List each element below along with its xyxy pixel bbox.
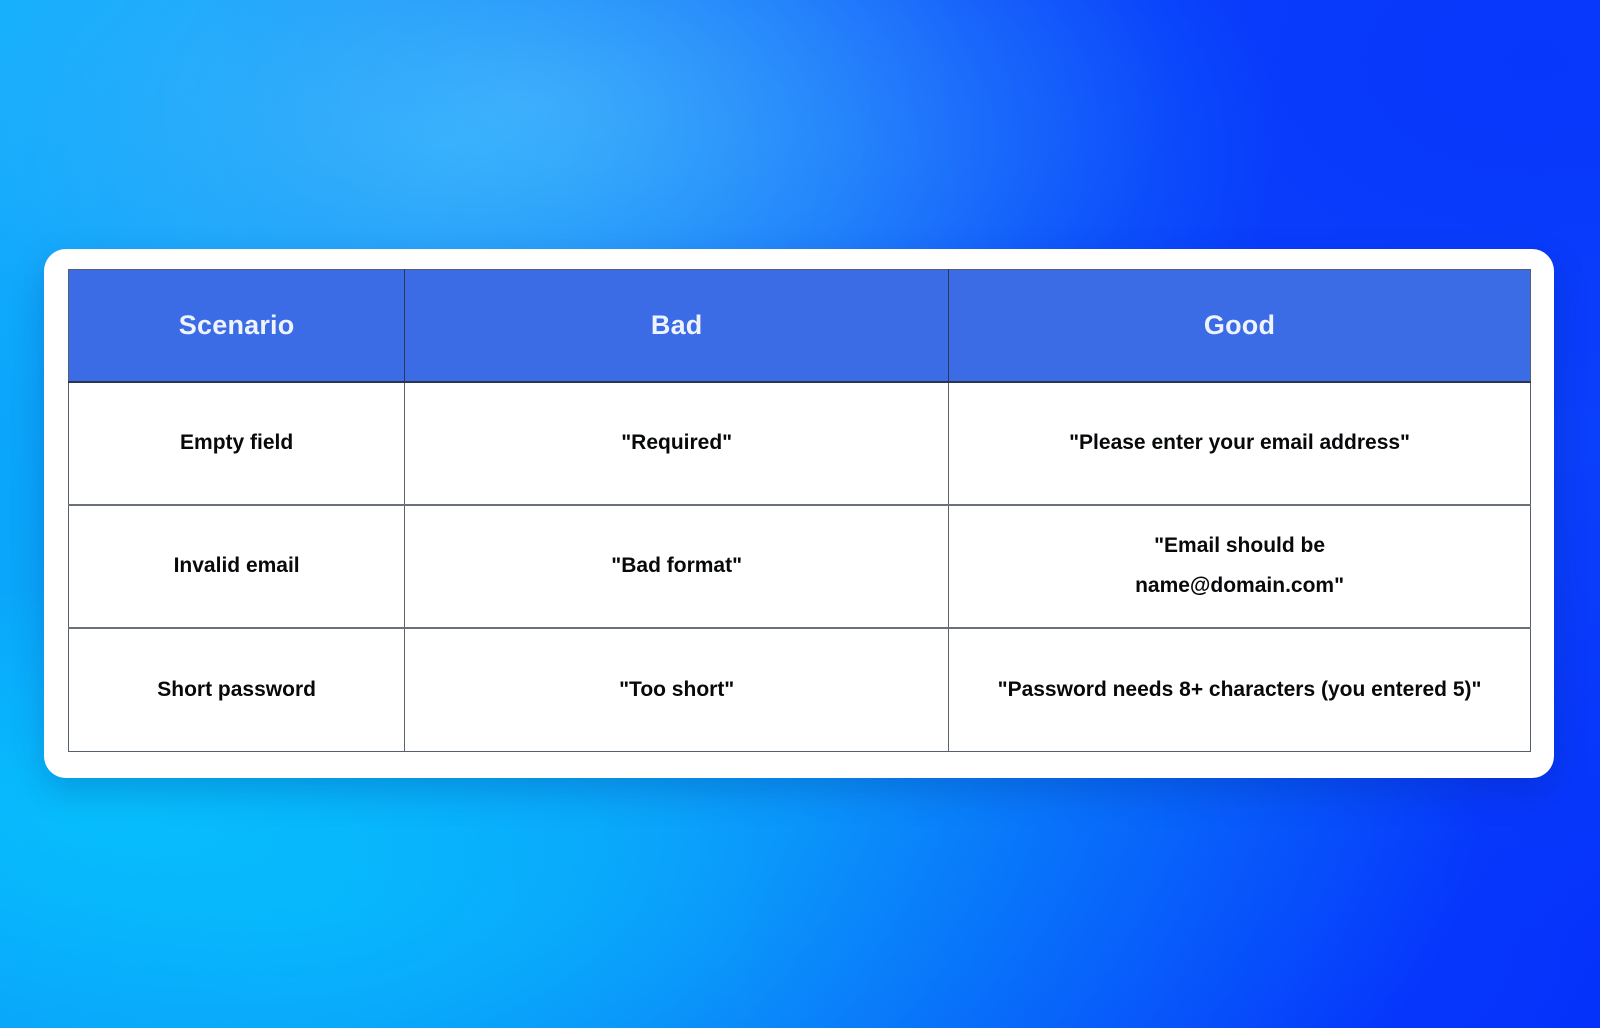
column-header-bad: Bad: [405, 270, 949, 382]
cell-bad: "Too short": [405, 628, 949, 751]
table-row: Invalid email "Bad format" "Email should…: [69, 505, 1531, 628]
column-header-good: Good: [949, 270, 1531, 382]
table-body: Empty field "Required" "Please enter you…: [69, 382, 1531, 752]
cell-scenario: Empty field: [69, 382, 405, 505]
table-row: Empty field "Required" "Please enter you…: [69, 382, 1531, 505]
cell-scenario: Short password: [69, 628, 405, 751]
cell-good: "Please enter your email address": [949, 382, 1531, 505]
cell-good-line-1: "Email should be: [1154, 534, 1325, 557]
table-header-row: Scenario Bad Good: [69, 270, 1531, 382]
cell-good: "Password needs 8+ characters (you enter…: [949, 628, 1531, 751]
table-card: Scenario Bad Good Empty field "Required"…: [44, 249, 1554, 778]
cell-good: "Email should be name@domain.com": [949, 505, 1531, 628]
table-row: Short password "Too short" "Password nee…: [69, 628, 1531, 751]
table-header: Scenario Bad Good: [69, 270, 1531, 382]
comparison-table: Scenario Bad Good Empty field "Required"…: [68, 269, 1531, 752]
cell-scenario: Invalid email: [69, 505, 405, 628]
cell-good-line-2: name@domain.com": [1135, 574, 1344, 597]
cell-bad: "Bad format": [405, 505, 949, 628]
column-header-scenario: Scenario: [69, 270, 405, 382]
cell-bad: "Required": [405, 382, 949, 505]
